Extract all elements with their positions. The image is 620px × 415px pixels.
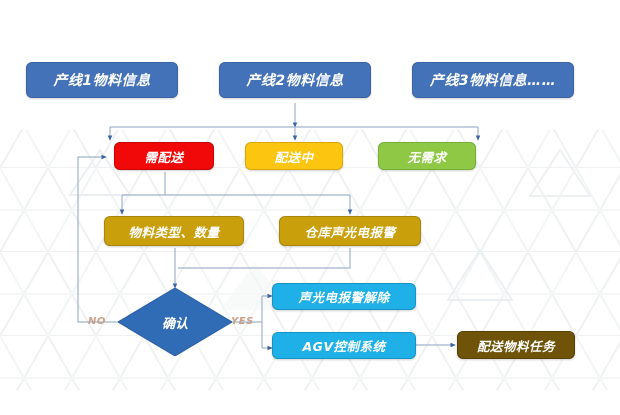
flowchart-canvas: 产线1物料信息 产线2物料信息 产线3物料信息…… 需配送 配送中 无需求 物料… (0, 0, 620, 415)
node-agv-control-system[interactable]: AGV控制系统 (272, 332, 416, 359)
node-warehouse-alarm[interactable]: 仓库声光电报警 (279, 216, 421, 246)
edge-label-no: NO (88, 316, 106, 327)
node-confirm-label: 确认 (118, 288, 232, 356)
node-production-line-1[interactable]: 产线1物料信息 (26, 62, 178, 98)
node-confirm-decision[interactable]: 确认 (118, 288, 232, 356)
node-in-delivery[interactable]: 配送中 (245, 142, 343, 170)
node-need-delivery[interactable]: 需配送 (114, 142, 214, 170)
edge-label-yes: YES (231, 316, 254, 327)
node-production-line-3[interactable]: 产线3物料信息…… (412, 62, 574, 98)
node-material-type-quantity[interactable]: 物料类型、数量 (104, 216, 244, 246)
node-no-demand[interactable]: 无需求 (378, 142, 476, 170)
node-alarm-release[interactable]: 声光电报警解除 (272, 283, 416, 310)
node-production-line-2[interactable]: 产线2物料信息 (219, 62, 371, 98)
node-delivery-task[interactable]: 配送物料任务 (457, 331, 575, 359)
